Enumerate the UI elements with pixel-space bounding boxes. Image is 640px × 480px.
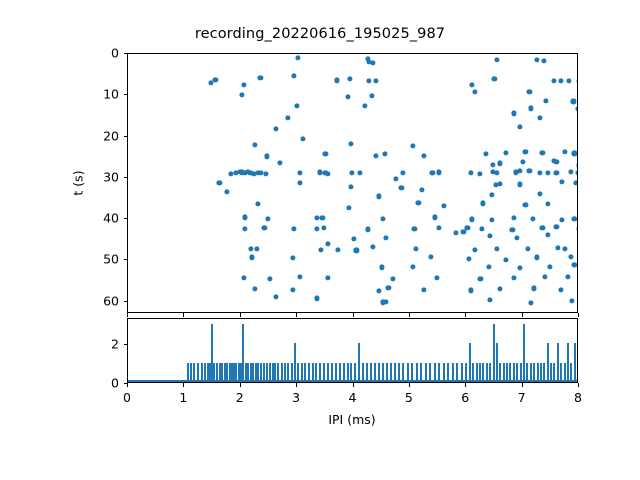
- scatter-point: [555, 245, 560, 250]
- histogram-bar: [398, 363, 400, 382]
- histogram-bar: [537, 363, 539, 382]
- histogram-bar: [523, 324, 525, 382]
- histogram-bar: [193, 363, 195, 382]
- scatter-y-tick: [124, 94, 128, 95]
- scatter-point: [239, 92, 244, 97]
- histogram-bar: [272, 363, 274, 382]
- scatter-point: [497, 161, 502, 166]
- histogram-bar: [540, 363, 542, 382]
- scatter-y-tick: [124, 259, 128, 260]
- scatter-point: [365, 227, 370, 232]
- scatter-x-tick: [127, 313, 128, 317]
- histogram-bar: [187, 363, 189, 382]
- histogram-bar: [516, 363, 518, 382]
- histogram-x-tick-label: 1: [179, 390, 187, 405]
- scatter-point: [410, 143, 415, 148]
- histogram-x-axis-label: IPI (ms): [328, 412, 375, 427]
- scatter-point: [322, 226, 327, 231]
- scatter-point: [292, 226, 297, 231]
- scatter-point: [559, 179, 564, 184]
- scatter-point: [512, 111, 517, 116]
- scatter-y-axis-label: t (s): [71, 170, 86, 195]
- histogram-bar: [465, 363, 467, 382]
- histogram-bar: [197, 363, 199, 382]
- scatter-point: [373, 78, 378, 83]
- scatter-x-tick: [522, 313, 523, 317]
- scatter-point: [297, 171, 302, 176]
- scatter-y-tick: [124, 301, 128, 302]
- scatter-point: [252, 287, 257, 292]
- scatter-point: [491, 162, 496, 167]
- scatter-point: [526, 246, 531, 251]
- scatter-point: [348, 185, 353, 190]
- histogram-bar: [308, 363, 310, 382]
- scatter-y-tick-label: 60: [79, 293, 119, 308]
- scatter-point: [317, 170, 322, 175]
- scatter-point: [523, 149, 528, 154]
- histogram-bar: [557, 343, 559, 382]
- scatter-point: [264, 154, 269, 159]
- histogram-bar: [530, 363, 532, 382]
- histogram-bar: [213, 363, 215, 382]
- histogram-bar: [489, 363, 491, 382]
- scatter-point: [478, 276, 483, 281]
- scatter-point: [373, 153, 378, 158]
- scatter-point: [412, 226, 417, 231]
- histogram-x-tick: [465, 383, 466, 387]
- scatter-point: [568, 254, 573, 259]
- histogram-bar: [402, 363, 404, 382]
- histogram-bar: [550, 363, 552, 382]
- scatter-point: [558, 78, 563, 83]
- histogram-bar: [482, 363, 484, 382]
- histogram-bar: [574, 343, 576, 382]
- scatter-point: [314, 296, 319, 301]
- scatter-point: [489, 192, 494, 197]
- histogram-x-tick-label: 4: [349, 390, 357, 405]
- histogram-bar: [269, 363, 271, 382]
- histogram-x-tick-label: 2: [236, 390, 244, 405]
- histogram-bar: [416, 363, 418, 382]
- scatter-point: [224, 189, 229, 194]
- histogram-bar: [287, 363, 289, 382]
- scatter-point: [558, 287, 563, 292]
- scatter-point: [367, 79, 372, 84]
- histogram-bar: [438, 363, 440, 382]
- scatter-point: [497, 181, 502, 186]
- scatter-point: [393, 176, 398, 181]
- histogram-bar: [499, 363, 501, 382]
- scatter-point: [566, 78, 571, 83]
- scatter-point: [503, 257, 508, 262]
- scatter-point: [495, 247, 500, 252]
- scatter-point: [465, 225, 470, 230]
- histogram-bar: [425, 363, 427, 382]
- scatter-point: [568, 169, 573, 174]
- histogram-bar: [506, 363, 508, 382]
- histogram-bar: [452, 363, 454, 382]
- page-title: recording_20220616_195025_987: [0, 26, 640, 42]
- histogram-bar: [503, 363, 505, 382]
- scatter-x-tick: [409, 313, 410, 317]
- scatter-point: [572, 151, 577, 156]
- histogram-x-tick: [127, 383, 128, 387]
- scatter-point: [320, 215, 325, 220]
- scatter-point: [472, 89, 477, 94]
- scatter-point: [335, 247, 340, 252]
- histogram-bars-layer: [128, 319, 577, 382]
- scatter-point: [513, 170, 518, 175]
- scatter-x-tick: [578, 313, 579, 317]
- histogram-x-tick: [578, 383, 579, 387]
- histogram-bar: [204, 363, 206, 382]
- scatter-point: [290, 287, 295, 292]
- histogram-bar: [411, 363, 413, 382]
- scatter-point: [208, 80, 213, 85]
- histogram-x-tick-label: 0: [123, 390, 131, 405]
- scatter-point: [292, 74, 297, 79]
- histogram-x-tick: [353, 383, 354, 387]
- scatter-point: [486, 264, 491, 269]
- scatter-points-layer: [128, 54, 577, 312]
- scatter-point: [551, 78, 556, 83]
- scatter-point: [351, 236, 356, 241]
- scatter-point: [371, 60, 376, 65]
- scatter-point: [545, 201, 550, 206]
- scatter-point: [530, 216, 535, 221]
- scatter-point: [469, 82, 474, 87]
- histogram-bar: [263, 363, 265, 382]
- scatter-point: [326, 171, 331, 176]
- scatter-point: [370, 93, 375, 98]
- scatter-point: [545, 233, 550, 238]
- histogram-bar: [386, 363, 388, 382]
- histogram-bar: [291, 363, 293, 382]
- histogram-bar: [567, 343, 569, 382]
- scatter-point: [527, 89, 532, 94]
- scatter-point: [528, 106, 533, 111]
- histogram-bar: [304, 363, 306, 382]
- scatter-y-tick: [124, 136, 128, 137]
- scatter-point: [575, 171, 577, 176]
- histogram-bar: [456, 363, 458, 382]
- scatter-x-tick: [296, 313, 297, 317]
- scatter-point: [334, 78, 339, 83]
- scatter-point: [384, 299, 389, 304]
- scatter-point: [314, 226, 319, 231]
- scatter-point: [262, 226, 267, 231]
- scatter-point: [254, 246, 259, 251]
- scatter-point: [382, 152, 387, 157]
- scatter-point: [213, 77, 218, 82]
- histogram-bar: [350, 363, 352, 382]
- histogram-bar: [420, 363, 422, 382]
- scatter-y-tick-label: 40: [79, 211, 119, 226]
- scatter-point: [534, 255, 539, 260]
- scatter-point: [242, 226, 247, 231]
- scatter-point: [466, 256, 471, 261]
- scatter-point: [479, 226, 484, 231]
- scatter-point: [571, 99, 576, 104]
- histogram-bar: [533, 363, 535, 382]
- histogram-bar: [323, 363, 325, 382]
- scatter-point: [265, 216, 270, 221]
- histogram-bar: [378, 363, 380, 382]
- scatter-point: [492, 76, 497, 81]
- histogram-bar: [382, 363, 384, 382]
- scatter-point: [258, 75, 263, 80]
- histogram-bar: [461, 363, 463, 382]
- scatter-point: [429, 254, 434, 259]
- scatter-point: [523, 202, 528, 207]
- histogram-bar: [327, 363, 329, 382]
- histogram-bar: [520, 363, 522, 382]
- scatter-point: [495, 171, 500, 176]
- histogram-bar: [339, 363, 341, 382]
- histogram-bar: [266, 363, 268, 382]
- scatter-point: [433, 215, 438, 220]
- scatter-point: [487, 233, 492, 238]
- scatter-point: [554, 159, 559, 164]
- histogram-bar: [543, 363, 545, 382]
- histogram-bar: [486, 363, 488, 382]
- scatter-point: [285, 115, 290, 120]
- scatter-point: [401, 171, 406, 176]
- scatter-point: [565, 274, 570, 279]
- scatter-point: [243, 215, 248, 220]
- scatter-point: [572, 216, 577, 221]
- histogram-bar: [201, 363, 203, 382]
- scatter-point: [574, 180, 577, 185]
- scatter-point: [349, 170, 354, 175]
- scatter-point: [559, 217, 564, 222]
- histogram-bar: [281, 363, 283, 382]
- scatter-x-tick: [353, 313, 354, 317]
- scatter-point: [249, 255, 254, 260]
- scatter-point: [512, 216, 517, 221]
- scatter-point: [300, 136, 305, 141]
- scatter-point: [576, 163, 577, 168]
- scatter-point: [483, 151, 488, 156]
- scatter-point: [472, 247, 477, 252]
- histogram-y-tick-label: 2: [79, 337, 119, 352]
- scatter-point: [376, 194, 381, 199]
- histogram-bar: [242, 324, 244, 382]
- histogram-bar: [190, 363, 192, 382]
- scatter-point: [477, 171, 482, 176]
- scatter-point: [510, 227, 515, 232]
- histogram-x-tick-label: 3: [292, 390, 300, 405]
- histogram-bar: [226, 363, 228, 382]
- histogram-bar: [294, 343, 296, 382]
- scatter-point: [273, 294, 278, 299]
- histogram-y-tick: [124, 344, 128, 345]
- histogram-bar: [447, 363, 449, 382]
- histogram-bar: [509, 363, 511, 382]
- histogram-bar: [312, 363, 314, 382]
- scatter-point: [517, 124, 522, 129]
- scatter-point: [554, 170, 559, 175]
- scatter-point: [562, 150, 567, 155]
- scatter-point: [421, 153, 426, 158]
- histogram-bar: [343, 363, 345, 382]
- scatter-point: [527, 169, 532, 174]
- scatter-y-tick-label: 20: [79, 128, 119, 143]
- scatter-point: [255, 201, 260, 206]
- histogram-bar: [255, 363, 257, 382]
- matplotlib-figure: recording_20220616_195025_987 0102030405…: [0, 0, 640, 480]
- histogram-bar: [252, 363, 254, 382]
- scatter-point: [413, 246, 418, 251]
- scatter-point: [541, 58, 546, 63]
- scatter-point: [345, 94, 350, 99]
- scatter-point: [545, 171, 550, 176]
- histogram-bar: [496, 343, 498, 382]
- histogram-bar: [547, 343, 549, 382]
- scatter-y-tick-label: 0: [79, 46, 119, 61]
- scatter-point: [517, 265, 522, 270]
- histogram-x-tick-label: 7: [518, 390, 526, 405]
- scatter-point: [517, 182, 522, 187]
- scatter-point: [534, 57, 539, 62]
- scatter-point: [376, 288, 381, 293]
- scatter-point: [572, 263, 577, 268]
- scatter-point: [297, 274, 302, 279]
- scatter-point: [326, 276, 331, 281]
- histogram-bar: [429, 363, 431, 382]
- scatter-point: [554, 224, 559, 229]
- histogram-bar: [443, 363, 445, 382]
- scatter-point: [399, 185, 404, 190]
- scatter-point: [487, 297, 492, 302]
- scatter-point: [241, 82, 246, 87]
- histogram-x-tick: [296, 383, 297, 387]
- scatter-point: [390, 276, 395, 281]
- scatter-y-tick-label: 10: [79, 87, 119, 102]
- histogram-bar: [211, 324, 213, 382]
- scatter-point: [437, 170, 442, 175]
- scatter-x-tick: [183, 313, 184, 317]
- scatter-point: [537, 115, 542, 120]
- scatter-point: [348, 141, 353, 146]
- scatter-point: [295, 103, 300, 108]
- scatter-point: [454, 231, 459, 236]
- histogram-bar: [354, 363, 356, 382]
- histogram-bar: [366, 363, 368, 382]
- scatter-point: [437, 226, 442, 231]
- scatter-point: [514, 235, 519, 240]
- scatter-point: [481, 201, 486, 206]
- histogram-bar: [331, 363, 333, 382]
- scatter-y-tick: [124, 53, 128, 54]
- scatter-point: [576, 79, 577, 84]
- histogram-bar: [374, 363, 376, 382]
- histogram-x-tick-label: 8: [574, 390, 582, 405]
- histogram-bar: [221, 363, 223, 382]
- scatter-point: [520, 160, 525, 165]
- scatter-point: [434, 275, 439, 280]
- histogram-bar: [394, 363, 396, 382]
- scatter-point: [318, 247, 323, 252]
- histogram-bar: [472, 363, 474, 382]
- histogram-bar: [476, 363, 478, 382]
- histogram-x-tick-label: 5: [405, 390, 413, 405]
- histogram-bar: [274, 363, 276, 382]
- scatter-point: [252, 142, 257, 147]
- histogram-bar: [560, 363, 562, 382]
- scatter-point: [544, 98, 549, 103]
- histogram-bar: [284, 363, 286, 382]
- histogram-y-tick-label: 0: [79, 376, 119, 391]
- histogram-bar: [526, 363, 528, 382]
- scatter-point: [358, 170, 363, 175]
- scatter-point: [217, 180, 222, 185]
- scatter-point: [371, 245, 376, 250]
- histogram-bar: [277, 363, 279, 382]
- scatter-point: [274, 126, 279, 131]
- histogram-bar: [564, 363, 566, 382]
- histogram-bar: [370, 363, 372, 382]
- histogram-bar: [513, 363, 515, 382]
- histogram-bar: [362, 363, 364, 382]
- histogram-x-tick: [409, 383, 410, 387]
- scatter-point: [562, 246, 567, 251]
- histogram-bar: [553, 363, 555, 382]
- scatter-point: [346, 205, 351, 210]
- scatter-point: [410, 264, 415, 269]
- scatter-point: [297, 180, 302, 185]
- scatter-point: [290, 256, 295, 261]
- histogram-bar: [434, 363, 436, 382]
- scatter-y-tick: [124, 177, 128, 178]
- scatter-point: [228, 172, 233, 177]
- scatter-point: [354, 248, 359, 253]
- scatter-point: [278, 160, 283, 165]
- histogram-bar: [390, 363, 392, 382]
- histogram-x-tick: [183, 383, 184, 387]
- scatter-point: [503, 150, 508, 155]
- scatter-y-tick-label: 50: [79, 252, 119, 267]
- scatter-point: [386, 285, 391, 290]
- histogram-axes: [127, 318, 578, 383]
- histogram-bar: [570, 363, 572, 382]
- scatter-point: [512, 276, 517, 281]
- scatter-point: [430, 171, 435, 176]
- scatter-point: [489, 217, 494, 222]
- histogram-bar: [407, 363, 409, 382]
- scatter-y-tick: [124, 218, 128, 219]
- histogram-x-tick: [522, 383, 523, 387]
- scatter-point: [528, 300, 533, 305]
- histogram-bar: [315, 363, 317, 382]
- scatter-point: [537, 191, 542, 196]
- scatter-point: [267, 276, 272, 281]
- scatter-point: [379, 265, 384, 270]
- scatter-point: [326, 241, 331, 246]
- scatter-point: [416, 200, 421, 205]
- scatter-point: [468, 171, 473, 176]
- scatter-point: [421, 287, 426, 292]
- scatter-point: [420, 188, 425, 193]
- scatter-x-tick: [465, 313, 466, 317]
- scatter-point: [537, 171, 542, 176]
- histogram-bar: [335, 363, 337, 382]
- scatter-point: [531, 286, 536, 291]
- scatter-point: [362, 103, 367, 108]
- scatter-point: [468, 288, 473, 293]
- scatter-point: [296, 56, 301, 61]
- scatter-point: [380, 216, 385, 221]
